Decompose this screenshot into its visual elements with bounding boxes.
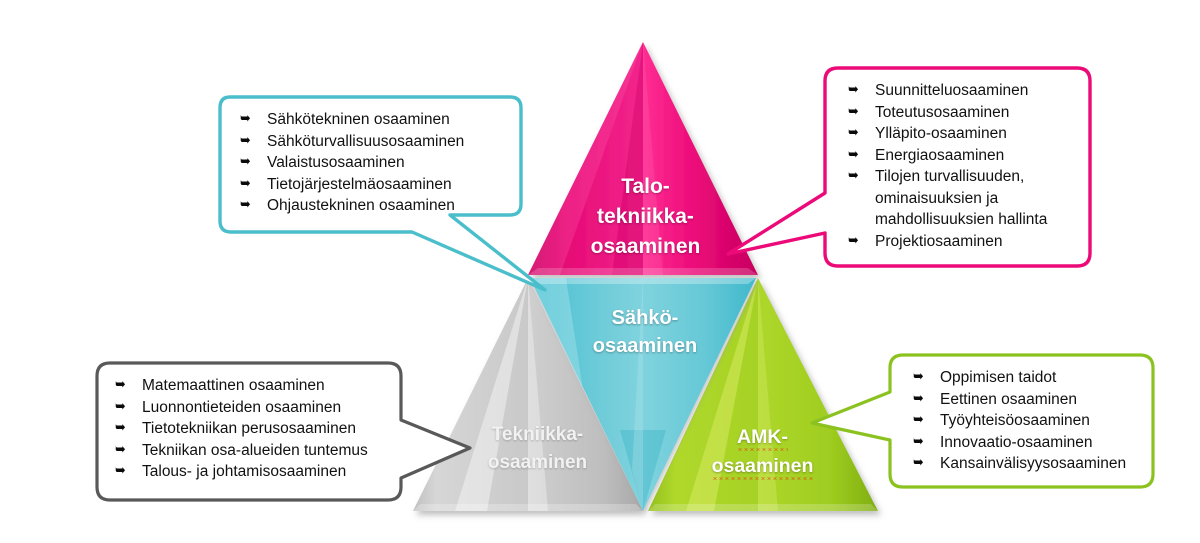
bullet-arrow-icon: ➥: [913, 452, 924, 474]
list-item: ➥Tietojärjestelmäosaaminen: [237, 174, 464, 196]
list-item: ➥Tilojen turvallisuuden, ominaisuuksien …: [845, 166, 1047, 231]
list-item: ➥Sähkötekninen osaaminen: [237, 109, 464, 131]
spellcheck-underlined-text: osaaminen: [712, 455, 814, 480]
list-item-continuation: mahdollisuuksien hallinta: [875, 209, 1047, 231]
bullet-arrow-icon: ➥: [848, 165, 859, 187]
bullet-arrow-icon: ➥: [115, 396, 126, 418]
bullet-arrow-icon: ➥: [240, 173, 251, 195]
bullet-arrow-icon: ➥: [848, 144, 859, 166]
pyramid-label-building-services: Talo- tekniikka- osaaminen: [563, 172, 728, 262]
bullet-arrow-icon: ➥: [240, 130, 251, 152]
callout-uas-list: ➥Oppimisen taidot ➥Eettinen osaaminen ➥T…: [910, 367, 1126, 475]
pyramid-diagram: ➥Sähkötekninen osaaminen ➥Sähköturvallis…: [0, 0, 1200, 543]
bullet-arrow-icon: ➥: [848, 79, 859, 101]
list-item: ➥Innovaatio-osaaminen: [910, 432, 1126, 454]
callout-building-services-list: ➥Suunnitteluosaaminen ➥Toteutusosaaminen…: [845, 80, 1047, 252]
list-item: ➥Matemaattinen osaaminen: [112, 375, 368, 397]
bullet-arrow-icon: ➥: [848, 101, 859, 123]
list-item: ➥Suunnitteluosaaminen: [845, 80, 1047, 102]
list-item: ➥Valaistusosaaminen: [237, 152, 464, 174]
list-item: ➥Tietotekniikan perusosaaminen: [112, 418, 368, 440]
bullet-arrow-icon: ➥: [240, 194, 251, 216]
pyramid-label-uas: AMK- osaaminen: [690, 423, 835, 481]
list-item-continuation: ominaisuuksien ja: [875, 188, 1047, 210]
list-item: ➥Ohjaustekninen osaaminen: [237, 195, 464, 217]
list-item: ➥Oppimisen taidot: [910, 367, 1126, 389]
list-item: ➥Työyhteisöosaaminen: [910, 410, 1126, 432]
bullet-arrow-icon: ➥: [913, 431, 924, 453]
list-item: ➥Kansainvälisyysosaaminen: [910, 453, 1126, 475]
bullet-arrow-icon: ➥: [240, 108, 251, 130]
pyramid-label-engineering: Tekniikka- osaaminen: [455, 421, 620, 477]
callout-engineering-list: ➥Matemaattinen osaaminen ➥Luonnontieteid…: [112, 375, 368, 483]
bullet-arrow-icon: ➥: [913, 409, 924, 431]
bullet-arrow-icon: ➥: [240, 151, 251, 173]
spellcheck-underlined-text: AMK-: [737, 426, 788, 451]
list-item: ➥Luonnontieteiden osaaminen: [112, 397, 368, 419]
list-item: ➥Projektiosaaminen: [845, 231, 1047, 253]
list-item: ➥Tekniikan osa-alueiden tuntemus: [112, 440, 368, 462]
bullet-arrow-icon: ➥: [115, 417, 126, 439]
bullet-arrow-icon: ➥: [913, 366, 924, 388]
bullet-arrow-icon: ➥: [115, 439, 126, 461]
bullet-arrow-icon: ➥: [115, 460, 126, 482]
bullet-arrow-icon: ➥: [913, 388, 924, 410]
list-item: ➥Eettinen osaaminen: [910, 389, 1126, 411]
list-item: ➥Energiaosaaminen: [845, 145, 1047, 167]
pyramid-label-electrical: Sähkö- osaaminen: [565, 304, 725, 360]
bullet-arrow-icon: ➥: [848, 230, 859, 252]
list-item: ➥Sähköturvallisuusosaaminen: [237, 131, 464, 153]
callout-electrical-list: ➥Sähkötekninen osaaminen ➥Sähköturvallis…: [237, 109, 464, 217]
list-item: ➥Toteutusosaaminen: [845, 102, 1047, 124]
list-item: ➥Ylläpito-osaaminen: [845, 123, 1047, 145]
list-item: ➥Talous- ja johtamisosaaminen: [112, 461, 368, 483]
bullet-arrow-icon: ➥: [115, 374, 126, 396]
bullet-arrow-icon: ➥: [848, 122, 859, 144]
